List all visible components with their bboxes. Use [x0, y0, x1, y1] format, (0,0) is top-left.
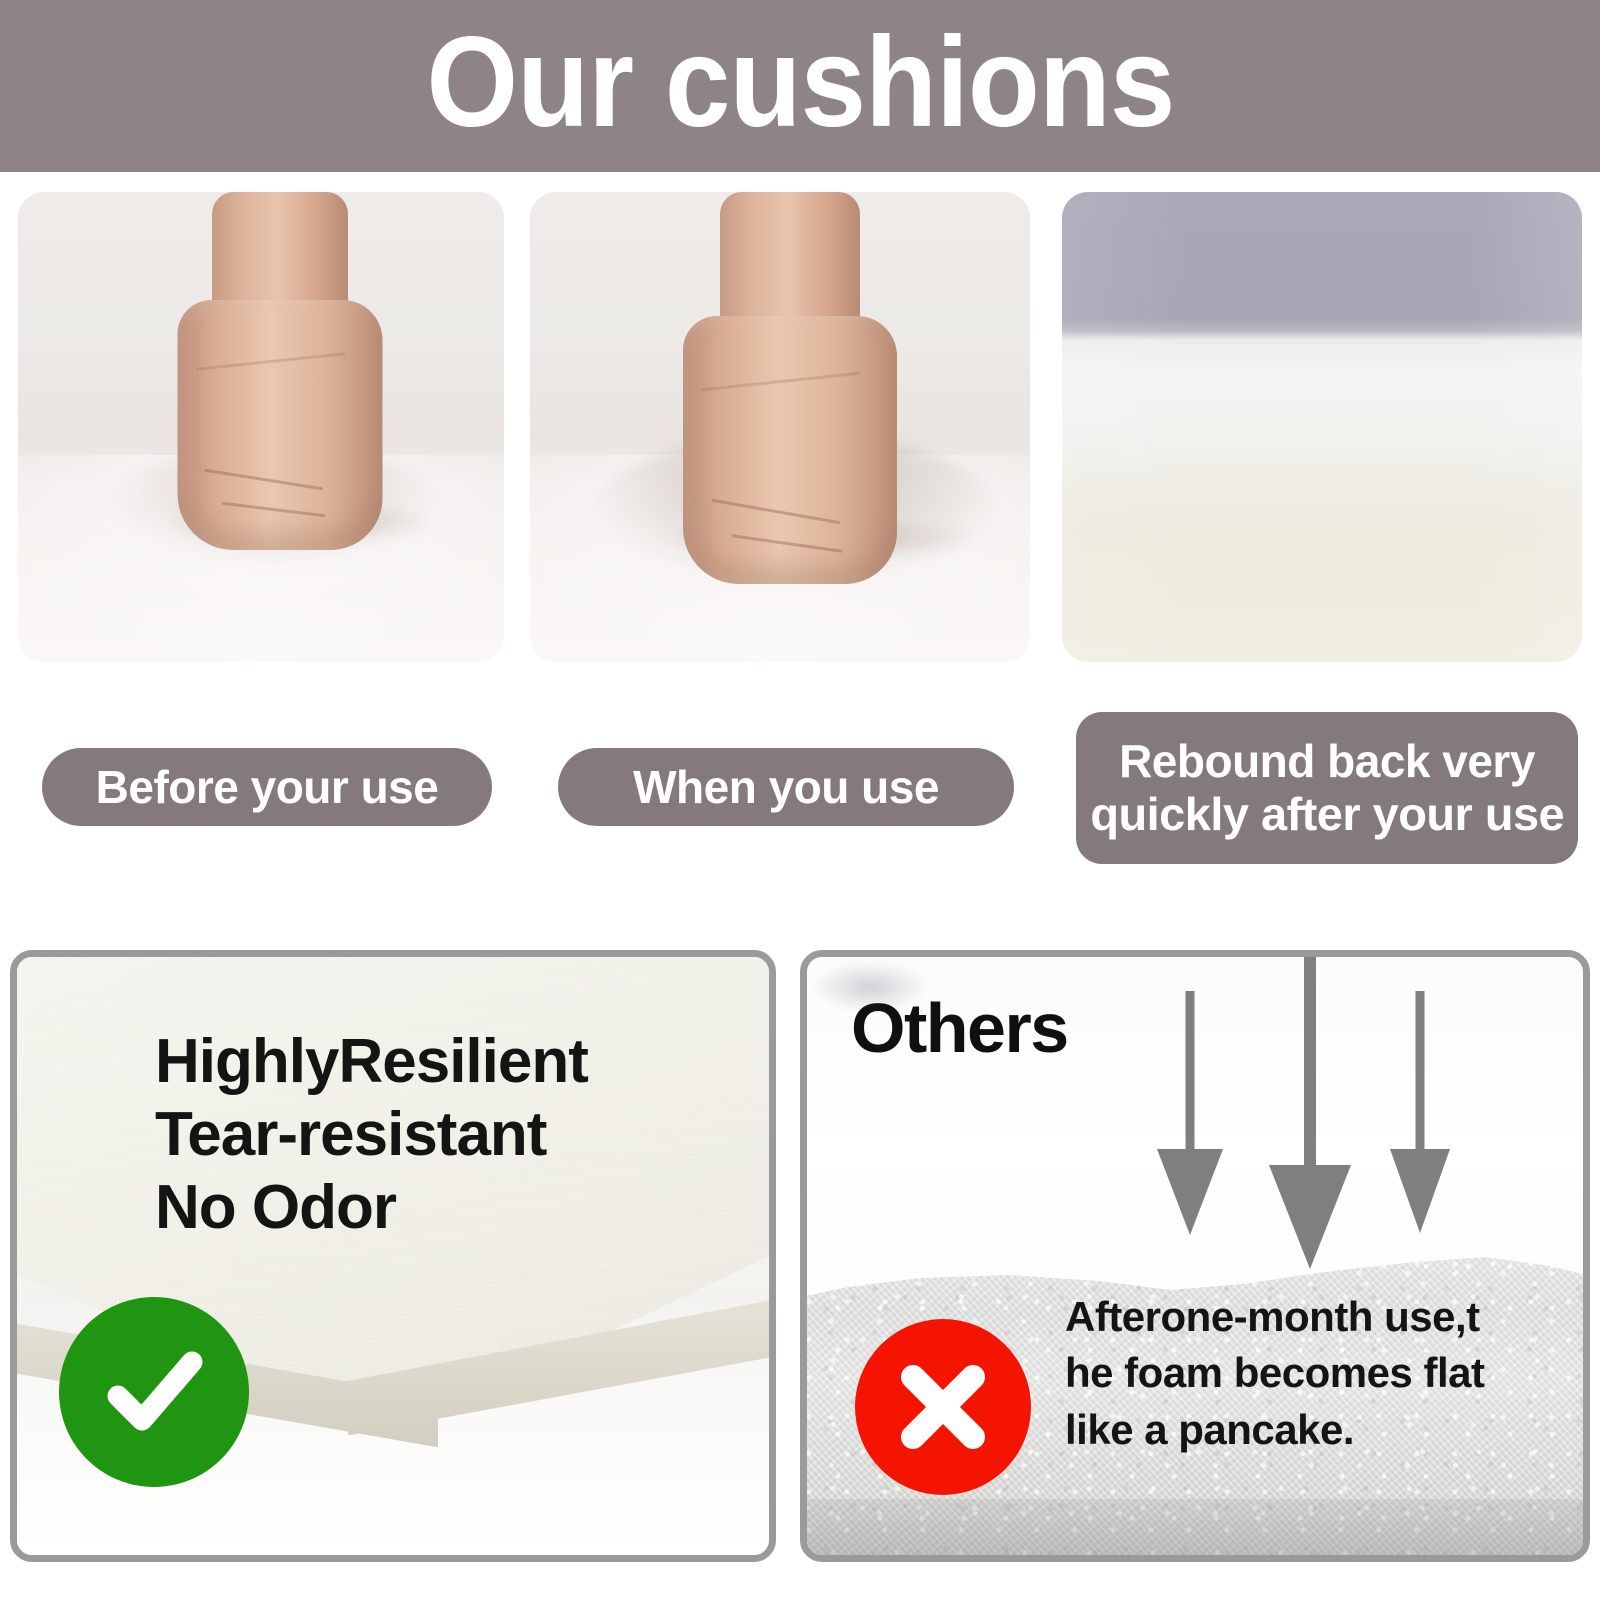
photo-row [0, 192, 1600, 662]
others-title: Others [851, 993, 1068, 1063]
panel-our-cushion: HighlyResilient Tear-resistant No Odor [10, 950, 776, 1562]
caption-label: Before your use [96, 760, 439, 814]
caption-label-line-2: quickly after your use [1090, 788, 1564, 841]
others-description-line-3: like a pancake. [1065, 1402, 1484, 1458]
arrow-shaft [1186, 991, 1195, 1151]
panel-others: Others Afterone-month use,t he foam beco… [800, 950, 1590, 1562]
arrow-shaft [1416, 991, 1425, 1151]
arrow-head [1157, 1149, 1223, 1235]
flattened-foam-bottom-edge [800, 1499, 1590, 1557]
good-feature-line-2: Tear-resistant [155, 1098, 588, 1171]
x-badge [855, 1319, 1031, 1495]
good-feature-line-3: No Odor [155, 1171, 588, 1244]
wrist-crease [196, 352, 345, 371]
fist-illustration [165, 192, 395, 592]
finger-crease [222, 502, 326, 518]
check-badge [59, 1297, 249, 1487]
caption-pill-before-use: Before your use [42, 748, 492, 826]
finger-crease [712, 499, 841, 525]
others-description: Afterone-month use,t he foam becomes fla… [1065, 1289, 1484, 1458]
caption-label: When you use [633, 760, 939, 814]
fist-knuckles-shape [683, 316, 897, 584]
photo-fist-resting-on-cushion [18, 192, 504, 662]
finger-crease [204, 469, 323, 491]
others-description-line-2: he foam becomes flat [1065, 1345, 1484, 1401]
arrow-head [1390, 1149, 1450, 1233]
page-title: Our cushions [426, 19, 1174, 147]
caption-label-line-1: Rebound back very [1119, 735, 1535, 788]
arrow-head [1269, 1165, 1351, 1269]
caption-pill-when-you-use: When you use [558, 748, 1014, 826]
arrow-shaft [1304, 957, 1316, 1167]
fist-illustration [670, 192, 910, 612]
foam-layer-bands [1062, 192, 1582, 662]
photo-foam-layers-rebounded [1062, 192, 1582, 662]
finger-crease [731, 534, 842, 553]
good-feature-line-1: HighlyResilient [155, 1025, 588, 1098]
wrist-crease [701, 372, 860, 392]
caption-pill-rebound: Rebound back very quickly after your use [1076, 712, 1578, 864]
fist-knuckles-shape [178, 300, 383, 550]
others-description-line-1: Afterone-month use,t [1065, 1289, 1484, 1345]
header-banner: Our cushions [0, 0, 1600, 172]
good-feature-list: HighlyResilient Tear-resistant No Odor [155, 1025, 588, 1244]
photo-fist-pressing-into-cushion [530, 192, 1030, 662]
